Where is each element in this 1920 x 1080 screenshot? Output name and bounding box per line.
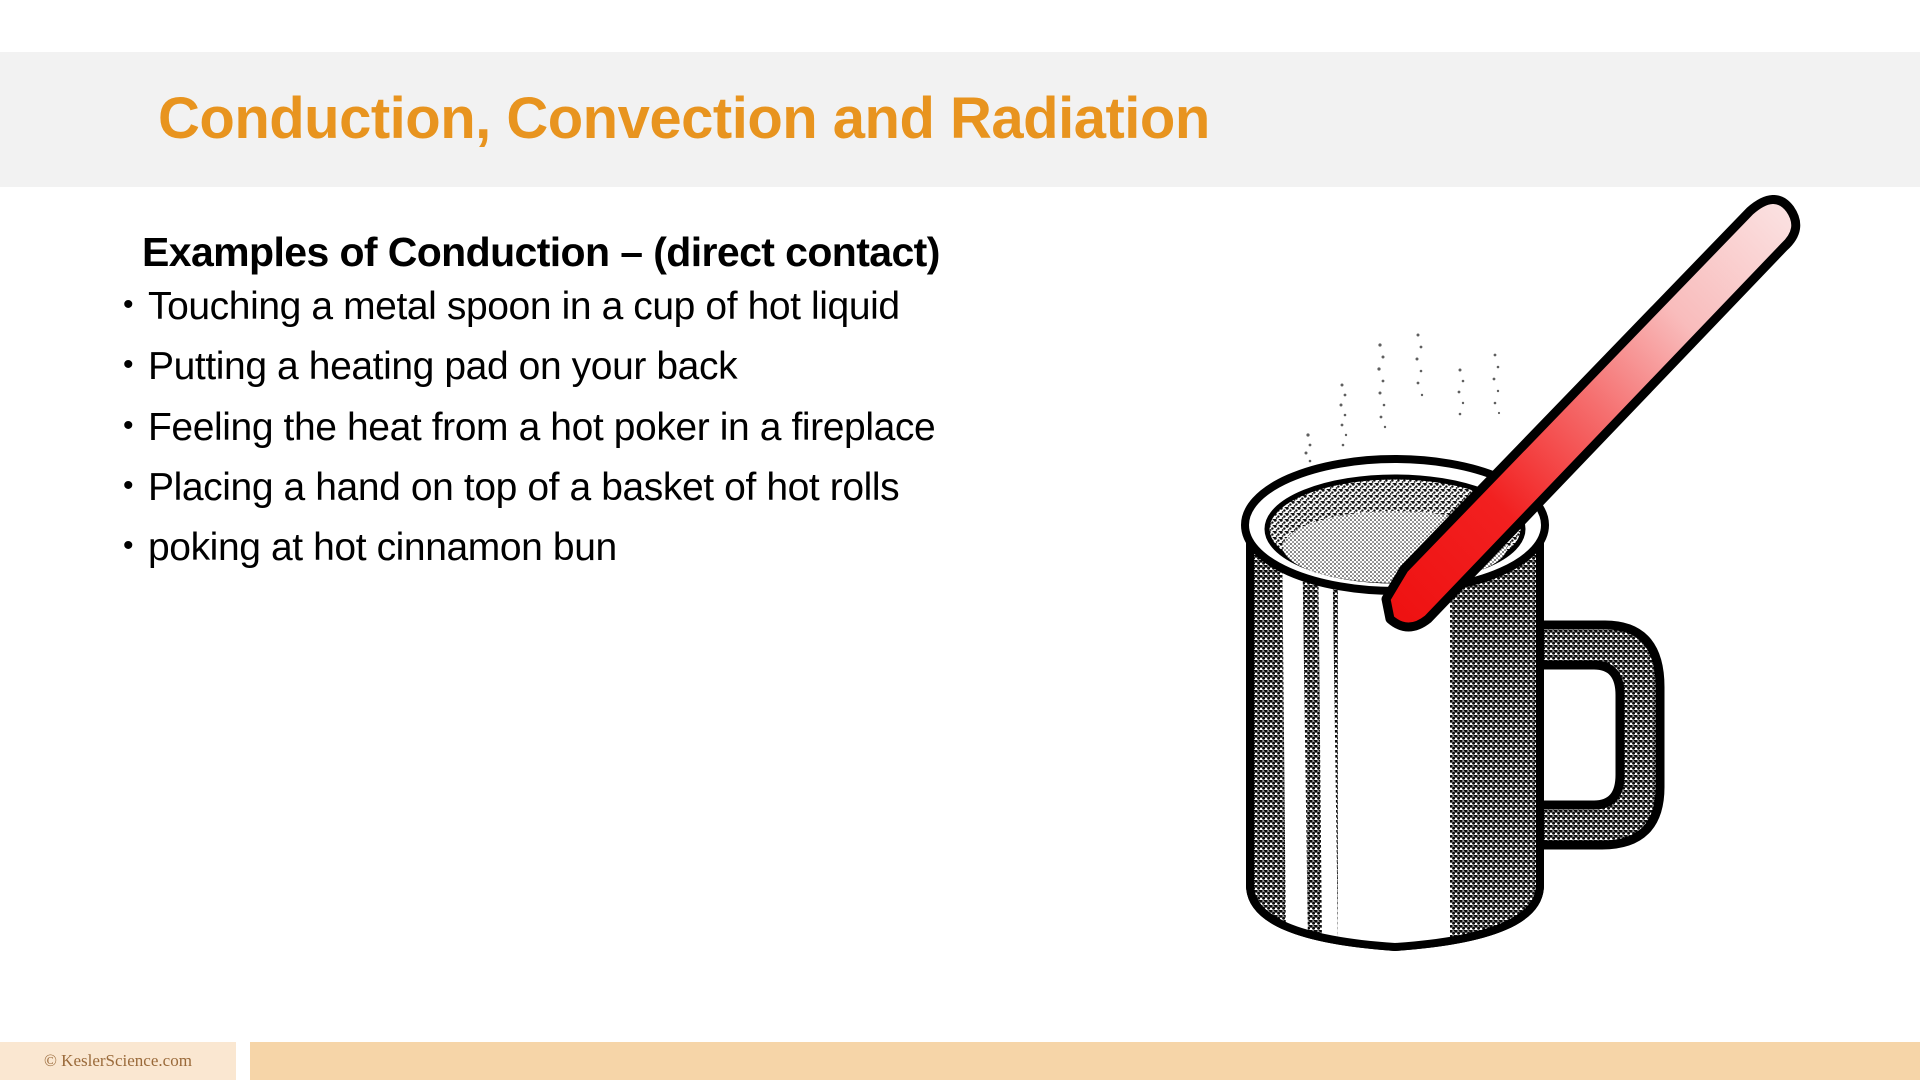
list-item: poking at hot cinnamon bun (120, 529, 1020, 567)
list-item: Touching a metal spoon in a cup of hot l… (120, 288, 1020, 326)
content-heading: Examples of Conduction – (direct contact… (120, 232, 1020, 272)
list-item-label: Feeling the heat from a hot poker in a f… (148, 406, 935, 449)
page-title: Conduction, Convection and Radiation (158, 68, 1658, 168)
list-item: Placing a hand on top of a basket of hot… (120, 469, 1020, 507)
list-item: Feeling the heat from a hot poker in a f… (120, 409, 1020, 447)
list-item-label: Putting a heating pad on your back (148, 345, 737, 388)
mug-handle (1535, 625, 1660, 845)
bullet-list: Touching a metal spoon in a cup of hot l… (120, 288, 1020, 567)
list-item-label: Placing a hand on top of a basket of hot… (148, 466, 899, 509)
list-item: Putting a heating pad on your back (120, 348, 1020, 386)
content-area: Examples of Conduction – (direct contact… (120, 232, 1020, 589)
footer-credit: © KeslerScience.com (44, 1051, 192, 1071)
slide: Conduction, Convection and Radiation Exa… (0, 0, 1920, 1080)
mug-with-hot-spoon-image (1190, 195, 1810, 975)
footer-right-band (250, 1042, 1920, 1080)
hot-spoon-icon (1386, 199, 1796, 627)
list-item-label: Touching a metal spoon in a cup of hot l… (148, 285, 900, 328)
list-item-label: poking at hot cinnamon bun (148, 526, 617, 569)
